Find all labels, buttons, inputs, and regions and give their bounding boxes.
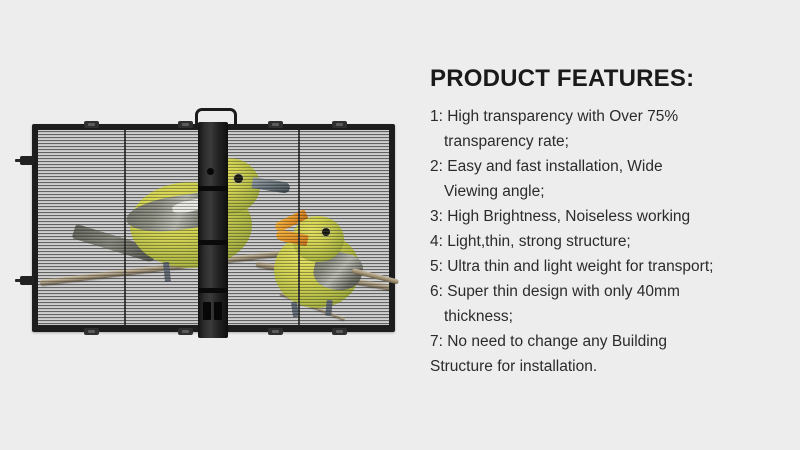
edge-latch-bottom-1 <box>84 328 99 335</box>
edge-latch-top-3 <box>268 121 283 128</box>
product-image <box>0 0 420 450</box>
feature-item-1-text: 1: High transparency with Over 75% <box>430 108 678 125</box>
feature-item-5: 5: Ultra thin and light weight for trans… <box>430 254 790 279</box>
feature-item-1: 1: High transparency with Over 75% trans… <box>430 104 790 154</box>
column-port-lower-left <box>203 302 211 320</box>
feature-item-7: 7: No need to change any Building Struct… <box>430 329 790 379</box>
feature-item-7-text: 7: No need to change any Building <box>430 333 667 350</box>
side-mounting-bracket-bottom <box>20 276 34 285</box>
feature-item-3: 3: High Brightness, Noiseless working <box>430 204 790 229</box>
centre-support-column <box>198 122 228 338</box>
feature-item-2-continuation: Viewing angle; <box>444 183 545 200</box>
bird-chick-foot-front <box>325 300 333 317</box>
feature-item-6: 6: Super thin design with only 40mm thic… <box>430 279 790 329</box>
feature-item-2: 2: Easy and fast installation, Wide View… <box>430 154 790 204</box>
column-port-upper <box>207 168 214 175</box>
feature-item-2-text: 2: Easy and fast installation, Wide <box>430 158 663 175</box>
column-port-lower-right <box>214 302 222 320</box>
carry-handle <box>195 108 237 127</box>
column-rib-middle <box>198 240 228 245</box>
panel-seam-1 <box>124 130 126 325</box>
feature-list: 1: High transparency with Over 75% trans… <box>430 104 790 379</box>
edge-latch-top-4 <box>332 121 347 128</box>
edge-latch-bottom-2 <box>178 328 193 335</box>
product-feature-slide: PRODUCT FEATURES: 1: High transparency w… <box>0 0 800 450</box>
feature-item-6-continuation: thickness; <box>444 308 513 325</box>
column-rib-top <box>198 186 228 191</box>
edge-latch-bottom-3 <box>268 328 283 335</box>
bird-chick-eye <box>322 228 330 236</box>
bird-chick <box>266 208 376 314</box>
features-panel: PRODUCT FEATURES: 1: High transparency w… <box>430 66 790 379</box>
side-mounting-bracket-top <box>20 156 34 165</box>
feature-item-4-text: 4: Light,thin, strong structure; <box>430 233 631 250</box>
feature-item-1-continuation: transparency rate; <box>444 133 569 150</box>
edge-latch-top-1 <box>84 121 99 128</box>
feature-item-5-text: 5: Ultra thin and light weight for trans… <box>430 258 713 275</box>
panel-seam-3 <box>298 130 300 325</box>
edge-latch-bottom-4 <box>332 328 347 335</box>
feature-item-3-text: 3: High Brightness, Noiseless working <box>430 208 690 225</box>
edge-latch-top-2 <box>178 121 193 128</box>
features-title: PRODUCT FEATURES: <box>430 66 790 92</box>
column-rib-lower <box>198 288 228 293</box>
bird-adult-eye <box>234 174 243 183</box>
feature-item-7-continuation: Structure for installation. <box>430 358 597 375</box>
feature-item-6-text: 6: Super thin design with only 40mm <box>430 283 680 300</box>
feature-item-4: 4: Light,thin, strong structure; <box>430 229 790 254</box>
